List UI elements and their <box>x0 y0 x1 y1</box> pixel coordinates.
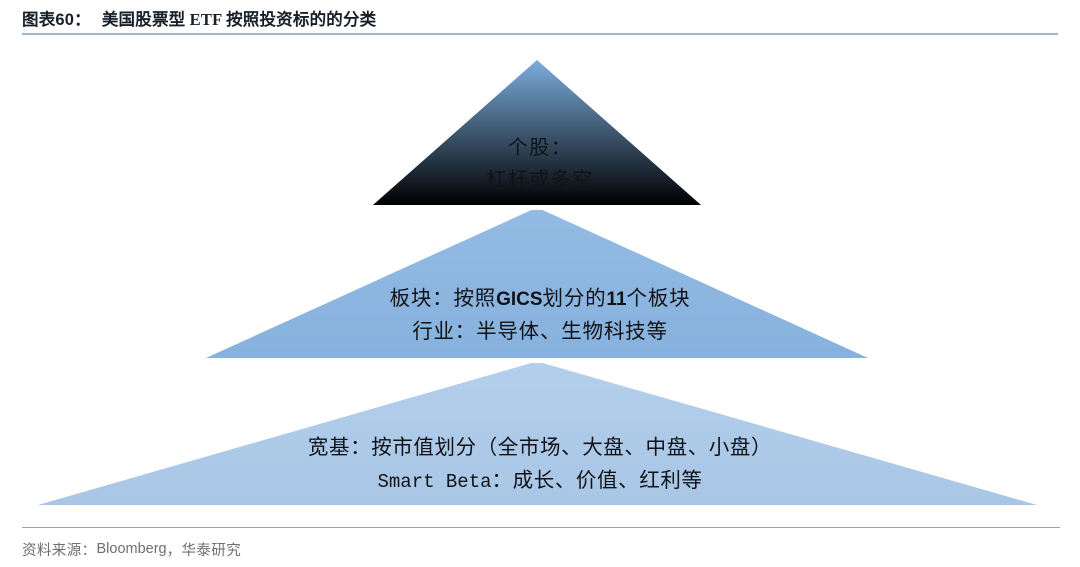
source-research: 华泰研究 <box>182 539 242 560</box>
page-title: 图表60： 美国股票型 ETF 按照投资标的的分类 <box>22 6 1060 30</box>
source-note: 资料来源：Bloomberg，华泰研究 <box>22 538 241 560</box>
source-provider: Bloomberg <box>97 541 167 557</box>
title-divider <box>22 33 1058 35</box>
source-separator: ， <box>167 539 182 560</box>
pyramid-tier-middle-shape <box>206 210 868 358</box>
pyramid-diagram: 个股： 杠杆或多空 板块：按照GICS划分的11个板块 行业：半导体、生物科技等… <box>0 40 1080 520</box>
pyramid-tier-bottom-shape <box>38 363 1037 505</box>
source-prefix: 资料来源： <box>22 539 97 560</box>
pyramid-tier-top-shape <box>373 60 701 205</box>
pyramid-svg <box>0 40 1080 520</box>
figure-container: 图表60： 美国股票型 ETF 按照投资标的的分类 <box>0 0 1080 567</box>
figure-title-text: 美国股票型 ETF 按照投资标的的分类 <box>102 6 377 30</box>
footer-divider <box>22 527 1060 528</box>
figure-number: 图表60： <box>22 6 91 30</box>
